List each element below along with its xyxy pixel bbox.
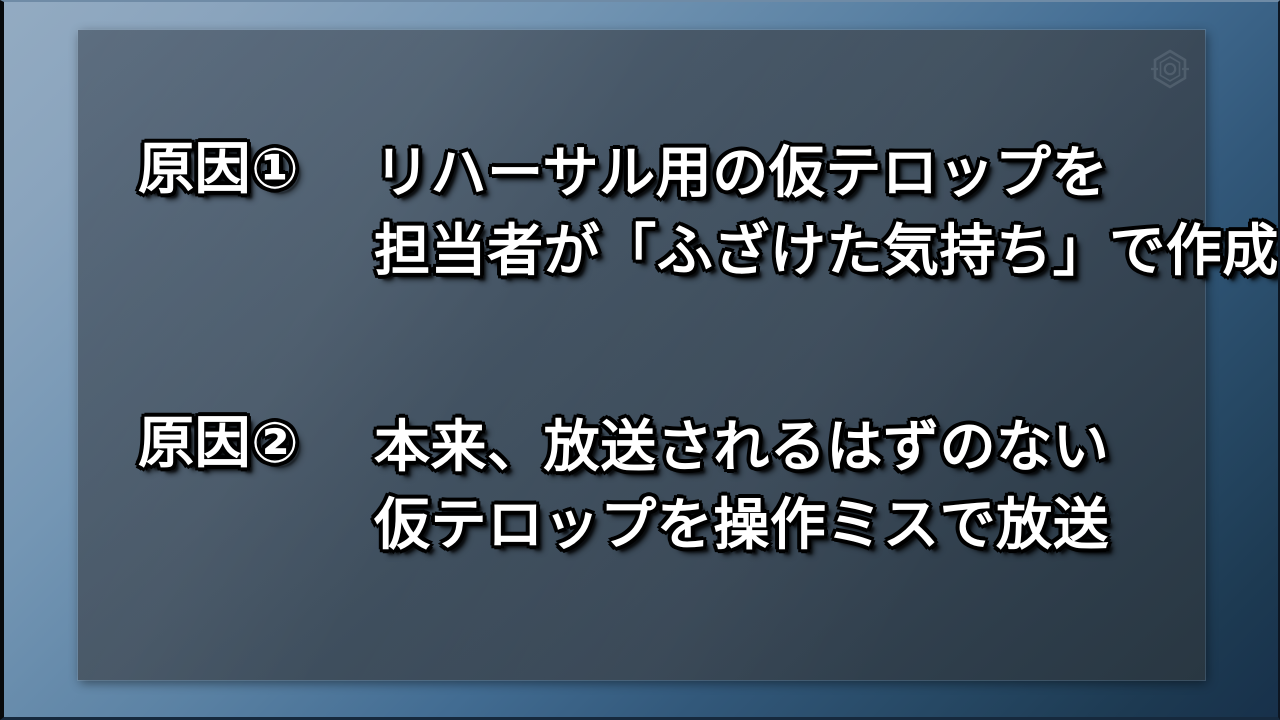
cause-text-2-line-2: 仮テロップを操作ミスで放送 (374, 490, 1187, 562)
cause-label-2: 原因② (138, 412, 374, 477)
cause-label-1: 原因① (138, 138, 374, 203)
cause-block-2: 原因② 本来、放送されるはずのない 仮テロップを操作ミスで放送 (138, 412, 1187, 561)
broadcast-caption-screen: 原因① リハーサル用の仮テロップを 担当者が「ふざけた気持ち」で作成 原因② 本… (0, 0, 1280, 720)
cause-text-1-line-2: 担当者が「ふざけた気持ち」で作成 (374, 216, 1279, 288)
caption-content: 原因① リハーサル用の仮テロップを 担当者が「ふざけた気持ち」で作成 原因② 本… (78, 30, 1205, 680)
caption-panel: 原因① リハーサル用の仮テロップを 担当者が「ふざけた気持ち」で作成 原因② 本… (78, 30, 1205, 680)
cause-text-2: 本来、放送されるはずのない 仮テロップを操作ミスで放送 (374, 412, 1187, 561)
cause-text-1-line-1: リハーサル用の仮テロップを (374, 138, 1279, 210)
cause-block-1: 原因① リハーサル用の仮テロップを 担当者が「ふざけた気持ち」で作成 (138, 138, 1187, 287)
cause-text-2-line-1: 本来、放送されるはずのない (374, 412, 1187, 484)
cause-text-1: リハーサル用の仮テロップを 担当者が「ふざけた気持ち」で作成 (374, 138, 1279, 287)
